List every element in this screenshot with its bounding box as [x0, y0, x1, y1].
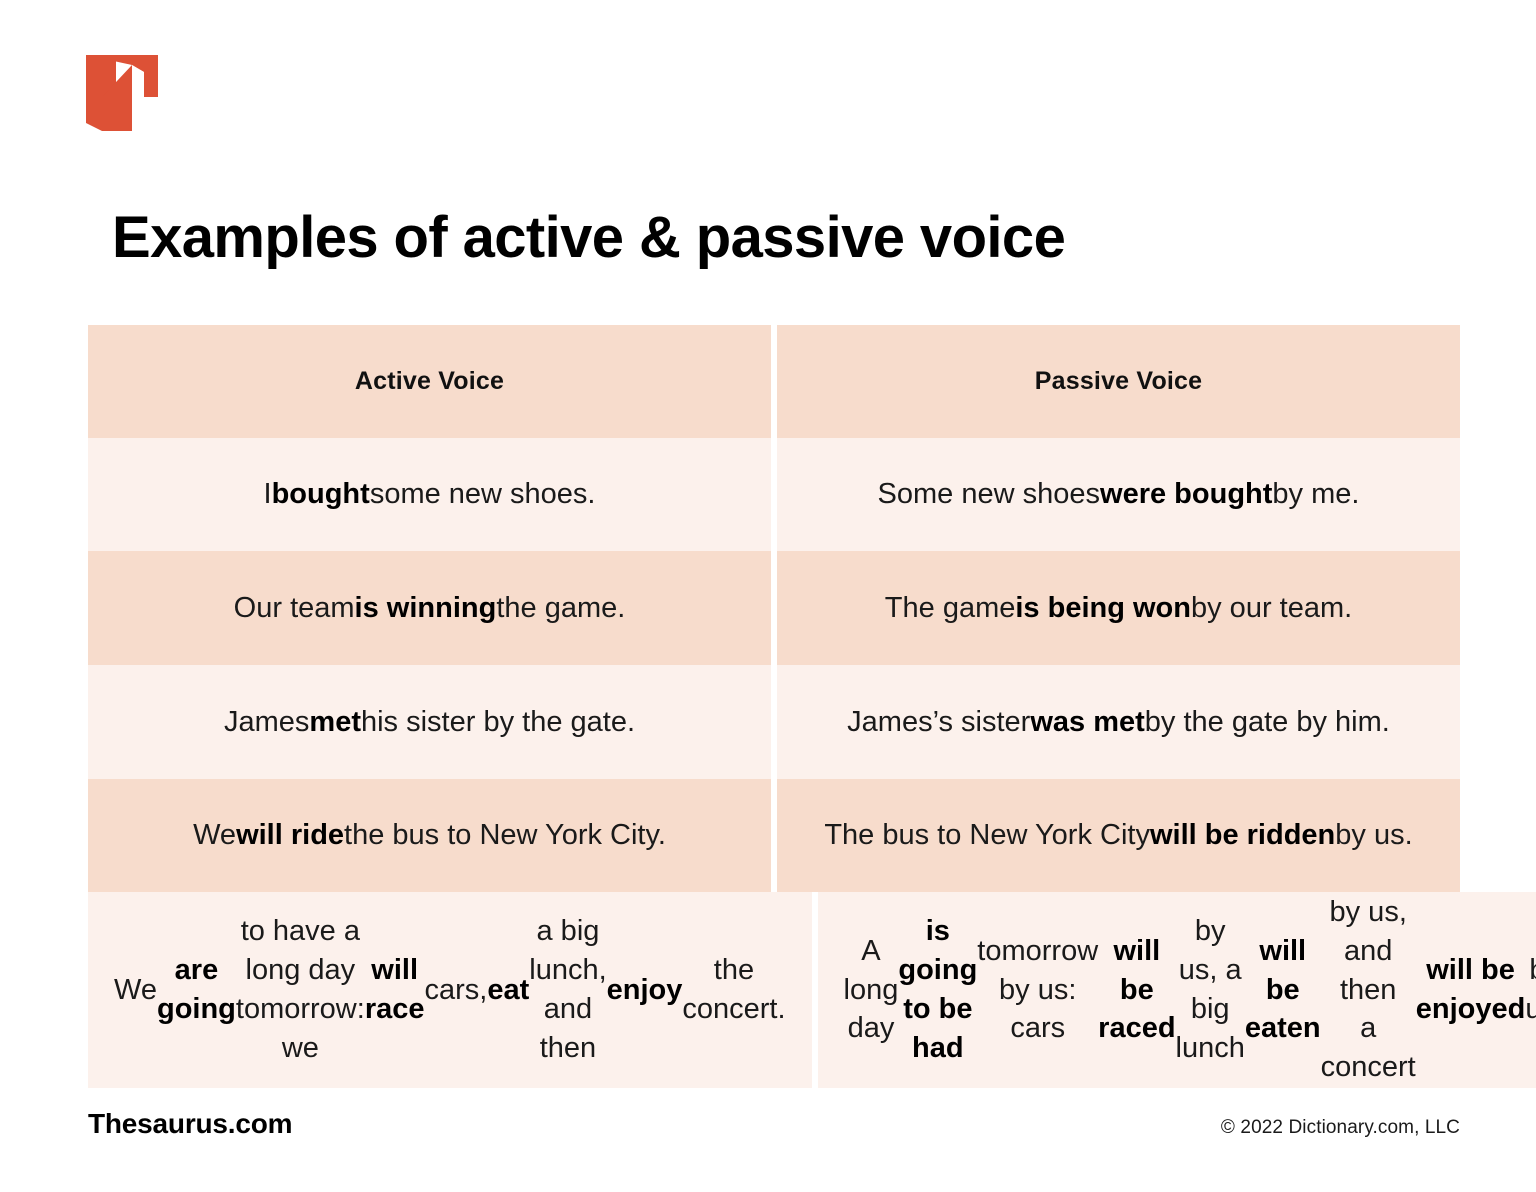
footer-copyright: © 2022 Dictionary.com, LLC	[1221, 1117, 1460, 1139]
table-row: James met his sister by the gate. James’…	[88, 665, 1460, 779]
table-row: I bought some new shoes. Some new shoes …	[88, 438, 1460, 551]
passive-voice-cell: Some new shoes were bought by me.	[777, 438, 1460, 551]
thesaurus-t-logo-icon	[86, 55, 158, 131]
passive-voice-cell: The bus to New York Citywill be ridden b…	[777, 779, 1460, 892]
active-voice-cell: James met his sister by the gate.	[88, 665, 771, 779]
column-header-active-voice: Active Voice	[88, 325, 771, 438]
active-voice-cell: I bought some new shoes.	[88, 438, 771, 551]
table-row: We are going to have a long daytomorrow:…	[88, 892, 1460, 1088]
passive-voice-cell: James’s sister was met by the gate by hi…	[777, 665, 1460, 779]
footer: Thesaurus.com © 2022 Dictionary.com, LLC	[88, 1108, 1460, 1140]
active-passive-voice-table: Active Voice Passive Voice I bought some…	[88, 325, 1460, 1088]
page-title: Examples of active & passive voice	[112, 206, 1065, 271]
active-voice-cell: We will ride the bus to New York City.	[88, 779, 771, 892]
passive-voice-cell: A long day is going to be had tomorrowby…	[818, 892, 1536, 1088]
active-voice-cell: Our team is winning the game.	[88, 551, 771, 665]
active-voice-cell: We are going to have a long daytomorrow:…	[88, 892, 812, 1088]
thesaurus-logo	[86, 55, 158, 131]
table-row: We will ride the bus to New York City. T…	[88, 779, 1460, 892]
table-row: Our team is winning the game. The game i…	[88, 551, 1460, 665]
passive-voice-cell: The game is being won by our team.	[777, 551, 1460, 665]
footer-brand-label: Thesaurus.com	[88, 1108, 292, 1140]
column-header-passive-voice: Passive Voice	[777, 325, 1460, 438]
table-header-row: Active Voice Passive Voice	[88, 325, 1460, 438]
